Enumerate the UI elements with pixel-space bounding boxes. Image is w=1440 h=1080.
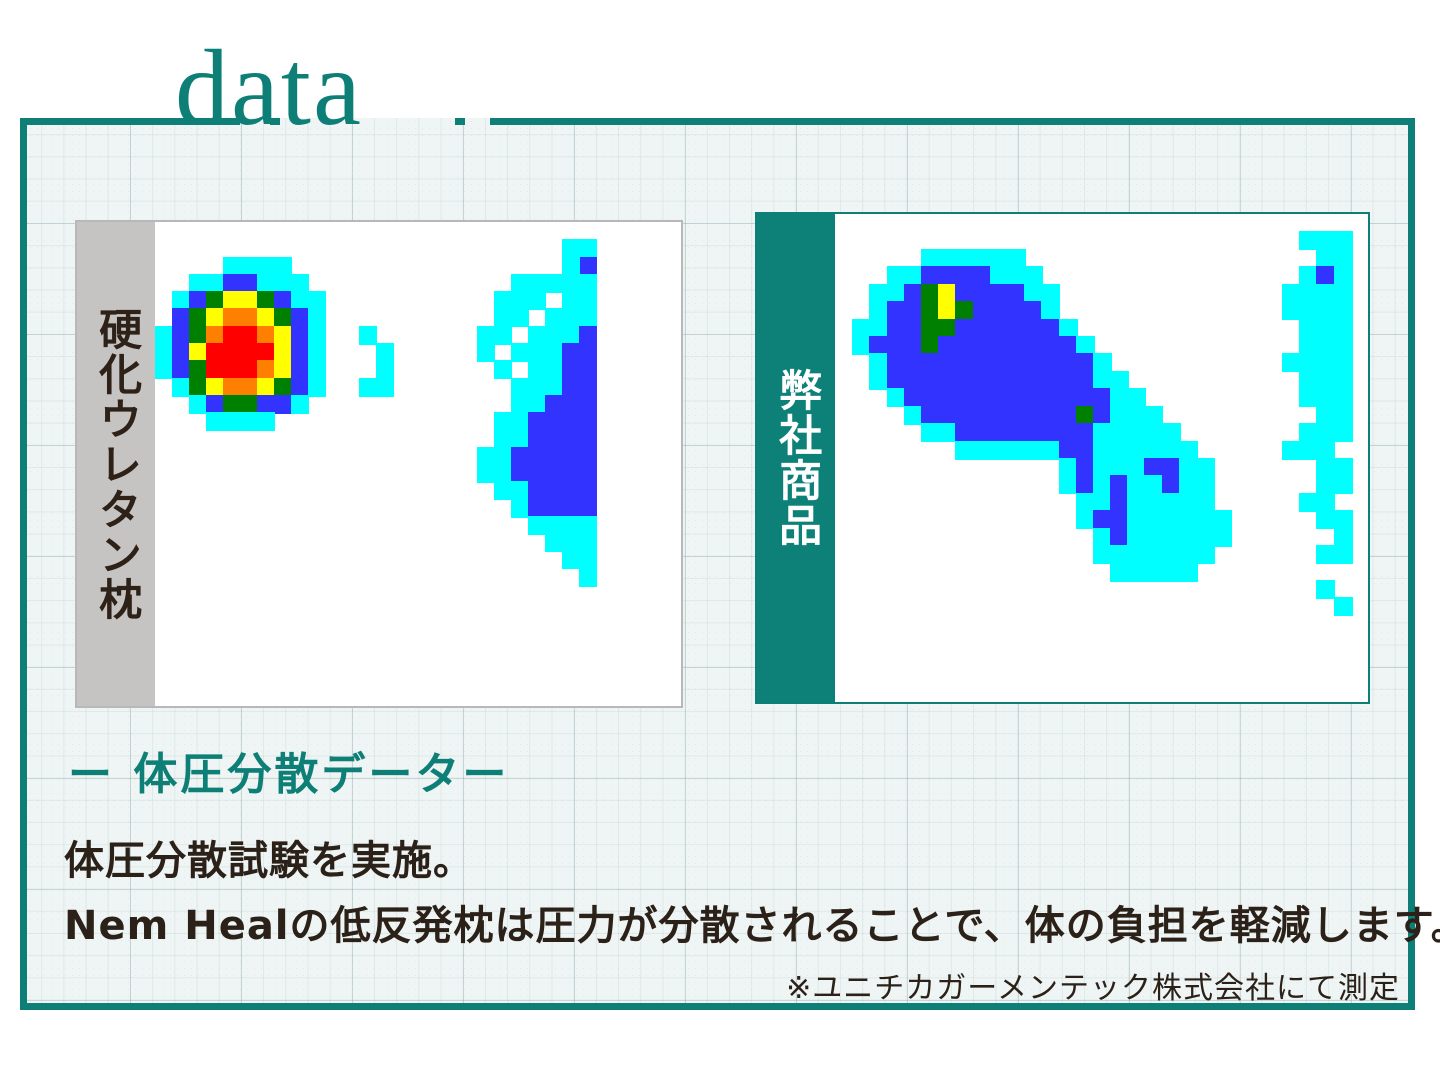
heatmap-cell <box>528 464 546 483</box>
heatmap-cell <box>494 464 512 483</box>
heatmap-cell <box>973 266 992 285</box>
heatmap-cell <box>511 481 529 500</box>
heatmap-cell <box>1316 353 1335 372</box>
heatmap-cell <box>1144 563 1163 582</box>
heatmap-cell <box>1007 319 1026 338</box>
heatmap-cell <box>579 533 597 552</box>
heatmap-cell <box>1007 371 1026 390</box>
heatmap-cell <box>308 308 326 327</box>
heatmap-cell <box>528 481 546 500</box>
heatmap-cell <box>1144 441 1163 460</box>
heatmap-cell <box>1334 406 1353 425</box>
heatmap-cell <box>1110 475 1129 494</box>
heatmap-cell <box>1059 458 1078 477</box>
heatmap-cell <box>579 291 597 310</box>
heatmap-cell <box>528 395 546 414</box>
heatmap-cell <box>223 274 241 293</box>
heatmap-cell <box>240 360 258 379</box>
heatmap-cell <box>921 371 940 390</box>
heatmap-cell <box>904 284 923 303</box>
heatmap-cell <box>1334 545 1353 564</box>
heatmap-cell <box>223 412 241 431</box>
heatmap-cell <box>1093 545 1112 564</box>
heatmap-cell <box>579 378 597 397</box>
heatmap-cell <box>990 388 1009 407</box>
heatmap-cell <box>511 447 529 466</box>
heatmap-cell <box>869 336 888 355</box>
heatmap-cell <box>1316 231 1335 250</box>
heatmap-cell <box>223 291 241 310</box>
heatmap-cell <box>477 343 495 362</box>
heatmap-cell <box>579 274 597 293</box>
heatmap-cell <box>921 336 940 355</box>
heatmap-cell <box>1093 528 1112 547</box>
heatmap-cell <box>1299 284 1318 303</box>
heatmap-cell <box>1179 458 1198 477</box>
heatmap-cell <box>990 319 1009 338</box>
heatmap-cell <box>274 326 292 345</box>
heatmap-cell <box>562 395 580 414</box>
heatmap-cell <box>1110 406 1129 425</box>
heatmap-cell <box>921 388 940 407</box>
heatmap-cell <box>172 378 190 397</box>
heatmap-cell <box>904 266 923 285</box>
heatmap-cell <box>1041 336 1060 355</box>
heatmap-cell <box>1299 336 1318 355</box>
heatmap-cell <box>1093 406 1112 425</box>
heatmap-cell <box>274 308 292 327</box>
heatmap-cell <box>494 308 512 327</box>
heatmap-cell <box>1196 510 1215 529</box>
heatmap-cell <box>1179 528 1198 547</box>
heatmap-cell <box>206 412 224 431</box>
heatmap-cell <box>291 360 309 379</box>
heatmap-cell <box>579 429 597 448</box>
heatmap-cell <box>955 249 974 268</box>
heatmap-cell <box>545 447 563 466</box>
heatmap-cell <box>308 378 326 397</box>
heatmap-cell <box>257 360 275 379</box>
heatmap-cell <box>189 395 207 414</box>
heatmap-cell <box>904 388 923 407</box>
heatmap-cell <box>1127 528 1146 547</box>
heatmap-cell <box>1007 284 1026 303</box>
heatmap-cell <box>189 360 207 379</box>
heatmap-cell <box>938 319 957 338</box>
heatmap-cell <box>172 343 190 362</box>
heatmap-cell <box>155 326 173 345</box>
heatmap-cell <box>938 353 957 372</box>
heatmap-cell <box>1213 510 1232 529</box>
heatmap-cell <box>545 516 563 535</box>
heatmap-cell <box>1162 493 1181 512</box>
heatmap-cell <box>189 291 207 310</box>
heatmap-cell <box>973 319 992 338</box>
heatmap-cell <box>1196 493 1215 512</box>
heatmap-cell <box>1076 510 1095 529</box>
heatmap-cell <box>1024 319 1043 338</box>
heatmap-cell <box>1316 388 1335 407</box>
heatmap-cell <box>1334 284 1353 303</box>
frame-edge-right <box>1408 118 1415 1010</box>
heatmap-cell <box>1024 406 1043 425</box>
heatmap-cell <box>955 284 974 303</box>
heatmap-cell <box>257 257 275 276</box>
heatmap-cell <box>1041 301 1060 320</box>
heatmap-cell <box>1059 406 1078 425</box>
heatmap-cell <box>240 308 258 327</box>
heatmap-cell <box>869 371 888 390</box>
body-text-line-1: 体圧分散試験を実施。 <box>64 828 474 886</box>
panel-label-right: 弊社商品 <box>773 368 818 548</box>
heatmap-cell <box>528 412 546 431</box>
heatmap-cell <box>223 326 241 345</box>
heatmap-cell <box>1007 336 1026 355</box>
heatmap-cell <box>223 378 241 397</box>
heatmap-cell <box>1007 441 1026 460</box>
heatmap-cell <box>1093 510 1112 529</box>
heatmap-cell <box>973 388 992 407</box>
heatmap-cell <box>308 291 326 310</box>
heatmap-cell <box>562 412 580 431</box>
heatmap-cell <box>376 378 394 397</box>
heatmap-cell <box>1162 475 1181 494</box>
heatmap-cell <box>1110 423 1129 442</box>
heatmap-cell <box>1316 266 1335 285</box>
heatmap-cell <box>1213 528 1232 547</box>
heatmap-cell <box>172 326 190 345</box>
pressure-map-panel-left: 硬化ウレタン枕 <box>75 220 683 708</box>
slide-root: data 硬化ウレタン枕 弊社商品 ー 体圧分散データー 体圧分散試験を実施。 … <box>0 0 1440 1080</box>
heatmap-cell <box>494 447 512 466</box>
heatmap-cell <box>938 284 957 303</box>
heatmap-cell <box>1127 441 1146 460</box>
heatmap-cell <box>1334 353 1353 372</box>
heatmap-cell <box>1144 493 1163 512</box>
heatmap-cell <box>938 336 957 355</box>
heatmap-cell <box>921 266 940 285</box>
heatmap-cell <box>528 291 546 310</box>
heatmap-cell <box>189 274 207 293</box>
heatmap-cell <box>1024 371 1043 390</box>
heatmap-cell <box>172 291 190 310</box>
frame-edge-top-dash-right <box>455 118 465 125</box>
heatmap-cell <box>887 284 906 303</box>
page-title: data <box>175 35 363 143</box>
heatmap-cell <box>477 464 495 483</box>
heatmap-cell <box>240 257 258 276</box>
heatmap-cell <box>206 360 224 379</box>
heatmap-cell <box>1041 371 1060 390</box>
heatmap-cell <box>1179 493 1198 512</box>
heatmap-cell <box>223 257 241 276</box>
heatmap-cell <box>1316 406 1335 425</box>
heatmap-cell <box>562 291 580 310</box>
heatmap-cell <box>562 481 580 500</box>
heatmap-cell <box>1162 441 1181 460</box>
heatmap-cell <box>1316 319 1335 338</box>
heatmap-cell <box>1024 266 1043 285</box>
heatmap-cell <box>206 274 224 293</box>
heatmap-cell <box>494 291 512 310</box>
heatmap-cell <box>274 343 292 362</box>
heatmap-cell <box>1127 406 1146 425</box>
heatmap-cell <box>1179 545 1198 564</box>
heatmap-cell <box>1076 336 1095 355</box>
heatmap-cell <box>1059 423 1078 442</box>
heatmap-cell <box>1334 301 1353 320</box>
heatmap-cell <box>579 360 597 379</box>
heatmap-cell <box>240 412 258 431</box>
heatmap-cell <box>852 336 871 355</box>
heatmap-cell <box>240 343 258 362</box>
heatmap-cell <box>545 360 563 379</box>
heatmap-cell <box>990 406 1009 425</box>
heatmap-cell <box>528 447 546 466</box>
heatmap-cell <box>938 371 957 390</box>
heatmap-cell <box>1334 336 1353 355</box>
heatmap-cell <box>1334 423 1353 442</box>
heatmap-cell <box>528 516 546 535</box>
heatmap-cell <box>1179 510 1198 529</box>
heatmap-cell <box>511 395 529 414</box>
heatmap-cell <box>1316 301 1335 320</box>
heatmap-cell <box>240 326 258 345</box>
heatmap-cell <box>274 360 292 379</box>
heatmap-cell <box>257 291 275 310</box>
heatmap-cell <box>1076 475 1095 494</box>
heatmap-cell <box>1059 353 1078 372</box>
heatmap-cell <box>973 441 992 460</box>
heatmap-cell <box>1334 231 1353 250</box>
heatmap-cell <box>1316 458 1335 477</box>
heatmap-cell <box>189 308 207 327</box>
heatmap-cell <box>1007 423 1026 442</box>
heatmap-cell <box>1041 319 1060 338</box>
heatmap-cell <box>973 406 992 425</box>
heatmap-plot-right <box>835 214 1368 702</box>
heatmap-cell <box>938 301 957 320</box>
heatmap-cell <box>545 429 563 448</box>
heatmap-cell <box>528 274 546 293</box>
heatmap-cell <box>1196 458 1215 477</box>
heatmap-cell <box>494 326 512 345</box>
heatmap-cell <box>562 239 580 258</box>
panel-label-left: 硬化ウレタン枕 <box>93 307 138 622</box>
heatmap-cell <box>1093 493 1112 512</box>
heatmap-cell <box>1334 458 1353 477</box>
heatmap-cell <box>562 308 580 327</box>
heatmap-cell <box>1334 510 1353 529</box>
heatmap-cell <box>1334 528 1353 547</box>
heatmap-cell <box>257 395 275 414</box>
heatmap-cell <box>1127 388 1146 407</box>
heatmap-cell <box>1041 441 1060 460</box>
heatmap-cell <box>938 406 957 425</box>
heatmap-cell <box>1093 475 1112 494</box>
heatmap-cell <box>562 343 580 362</box>
heatmap-cell <box>1093 371 1112 390</box>
heatmap-cell <box>206 343 224 362</box>
heatmap-cell <box>1007 388 1026 407</box>
heatmap-cell <box>1316 336 1335 355</box>
heatmap-cell <box>562 550 580 569</box>
heatmap-cell <box>990 336 1009 355</box>
heatmap-cell <box>562 499 580 518</box>
heatmap-cell <box>240 291 258 310</box>
heatmap-cell <box>1334 319 1353 338</box>
heatmap-cell <box>904 353 923 372</box>
heatmap-cell <box>240 395 258 414</box>
heatmap-cell <box>973 301 992 320</box>
heatmap-cell <box>1007 249 1026 268</box>
heatmap-cell <box>973 353 992 372</box>
heatmap-cell <box>990 441 1009 460</box>
heatmap-cell <box>257 326 275 345</box>
heatmap-cell <box>511 291 529 310</box>
heatmap-cell <box>1110 563 1129 582</box>
heatmap-cell <box>973 423 992 442</box>
heatmap-cell <box>579 499 597 518</box>
measurement-footnote: ※ユニチカガーメンテック株式会社にて測定 <box>786 963 1400 1007</box>
heatmap-cell <box>1144 528 1163 547</box>
heatmap-cell <box>1334 597 1353 616</box>
heatmap-cell <box>206 326 224 345</box>
heatmap-cell <box>1316 284 1335 303</box>
heatmap-cell <box>1007 301 1026 320</box>
heatmap-cell <box>1127 423 1146 442</box>
heatmap-cell <box>257 412 275 431</box>
heatmap-cell <box>511 308 529 327</box>
heatmap-cell <box>1179 441 1198 460</box>
heatmap-cell <box>1316 510 1335 529</box>
section-heading: ー 体圧分散データー <box>68 738 509 802</box>
heatmap-cell <box>545 308 563 327</box>
heatmap-cell <box>545 481 563 500</box>
heatmap-cell <box>990 284 1009 303</box>
heatmap-cell <box>528 499 546 518</box>
heatmap-cell <box>579 516 597 535</box>
heatmap-cell <box>1334 371 1353 390</box>
heatmap-cell <box>1110 528 1129 547</box>
heatmap-cell <box>955 336 974 355</box>
heatmap-cell <box>308 343 326 362</box>
heatmap-cell <box>990 353 1009 372</box>
heatmap-cell <box>172 308 190 327</box>
heatmap-cell <box>955 388 974 407</box>
heatmap-cell <box>291 343 309 362</box>
heatmap-cell <box>938 249 957 268</box>
heatmap-cell <box>1299 388 1318 407</box>
heatmap-cell <box>291 395 309 414</box>
heatmap-cell <box>1127 510 1146 529</box>
heatmap-cell <box>1059 319 1078 338</box>
heatmap-cell <box>494 360 512 379</box>
heatmap-cell <box>579 395 597 414</box>
heatmap-cell <box>562 429 580 448</box>
heatmap-cell <box>904 406 923 425</box>
heatmap-cell <box>869 301 888 320</box>
heatmap-cell <box>1093 388 1112 407</box>
heatmap-cell <box>579 447 597 466</box>
heatmap-cell <box>1007 406 1026 425</box>
heatmap-cell <box>1024 441 1043 460</box>
heatmap-cell <box>1093 423 1112 442</box>
heatmap-cell <box>376 360 394 379</box>
heatmap-cell <box>1144 510 1163 529</box>
heatmap-cell <box>887 353 906 372</box>
heatmap-cell <box>1076 441 1095 460</box>
heatmap-cell <box>887 336 906 355</box>
heatmap-cell <box>1127 458 1146 477</box>
heatmap-cell <box>1110 458 1129 477</box>
heatmap-cell <box>1041 353 1060 372</box>
heatmap-cell <box>274 274 292 293</box>
heatmap-cell <box>938 388 957 407</box>
heatmap-cell <box>562 274 580 293</box>
heatmap-cell <box>1127 545 1146 564</box>
heatmap-cell <box>223 395 241 414</box>
heatmap-cell <box>1282 441 1301 460</box>
heatmap-cell <box>1334 475 1353 494</box>
heatmap-cell <box>921 284 940 303</box>
heatmap-cell <box>1196 475 1215 494</box>
heatmap-cell <box>562 516 580 535</box>
heatmap-cell <box>274 257 292 276</box>
heatmap-cell <box>1162 528 1181 547</box>
panel-label-band-left: 硬化ウレタン枕 <box>77 222 155 706</box>
heatmap-cell <box>1024 284 1043 303</box>
heatmap-cell <box>1076 353 1095 372</box>
heatmap-cell <box>955 266 974 285</box>
heatmap-cell <box>579 343 597 362</box>
heatmap-cell <box>887 266 906 285</box>
heatmap-cell <box>1144 475 1163 494</box>
heatmap-cell <box>921 249 940 268</box>
heatmap-cell <box>1076 423 1095 442</box>
heatmap-cell <box>1299 319 1318 338</box>
heatmap-cell <box>223 360 241 379</box>
heatmap-cell <box>1144 458 1163 477</box>
heatmap-cell <box>206 308 224 327</box>
heatmap-cell <box>887 388 906 407</box>
frame-edge-top-right <box>490 118 1415 125</box>
heatmap-cell <box>291 274 309 293</box>
heatmap-cell <box>257 274 275 293</box>
heatmap-cell <box>545 274 563 293</box>
heatmap-cell <box>189 326 207 345</box>
heatmap-cell <box>1316 493 1335 512</box>
heatmap-cell <box>579 412 597 431</box>
heatmap-cell <box>494 429 512 448</box>
heatmap-cell <box>869 319 888 338</box>
heatmap-cell <box>1162 510 1181 529</box>
heatmap-cell <box>511 378 529 397</box>
heatmap-cell <box>172 360 190 379</box>
heatmap-cell <box>1059 388 1078 407</box>
heatmap-cell <box>257 343 275 362</box>
heatmap-cell <box>528 360 546 379</box>
heatmap-cell <box>274 378 292 397</box>
heatmap-cell <box>1024 423 1043 442</box>
heatmap-cell <box>1299 423 1318 442</box>
heatmap-cell <box>545 378 563 397</box>
heatmap-cell <box>1110 441 1129 460</box>
heatmap-cell <box>955 423 974 442</box>
heatmap-cell <box>1127 475 1146 494</box>
heatmap-cell <box>562 360 580 379</box>
heatmap-cell <box>359 378 377 397</box>
